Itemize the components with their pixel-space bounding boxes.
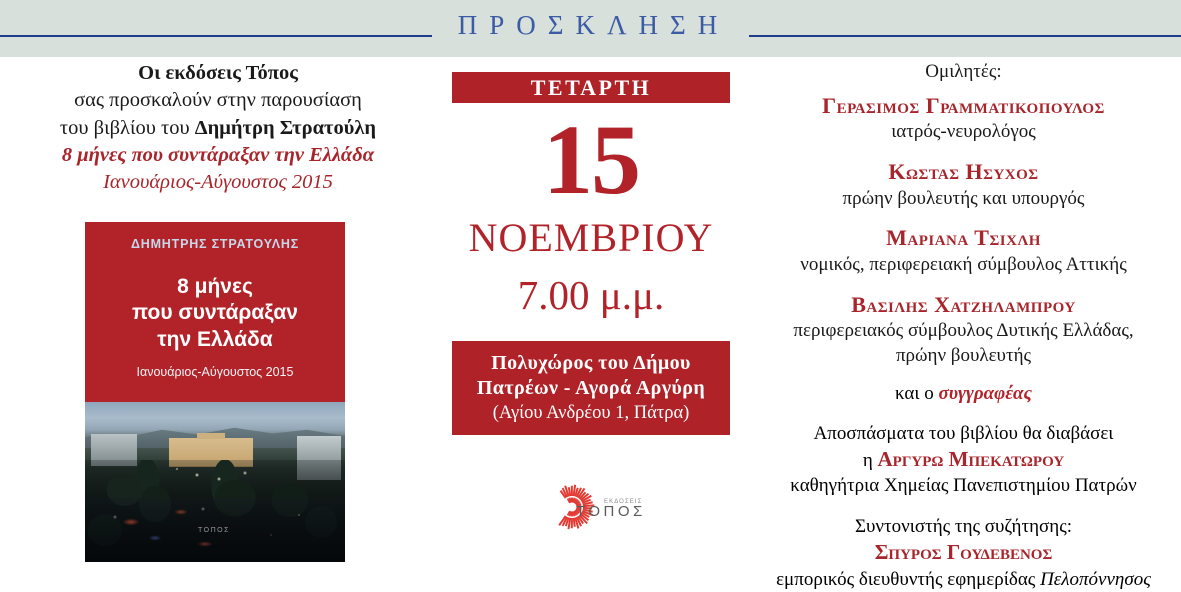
day-number: 15: [436, 110, 746, 210]
moderator-newspaper: Πελοπόννησος: [1040, 569, 1151, 590]
reading-reader-name: Αργυρω Μπεκατωρου: [878, 447, 1065, 471]
month-label: ΝΟΕΜΒΡΙΟΥ: [436, 218, 746, 258]
venue-box: Πολυχώρος του Δήμου Πατρέων - Αγορά Αργύ…: [452, 341, 730, 435]
page-title: ΠΡΟΣΚΛΗΣΗ: [432, 12, 750, 45]
moderator-name: Σπυρος Γουδεβενος: [746, 539, 1181, 567]
reading-line1: Αποσπάσματα του βιβλίου θα διαβάσει: [746, 421, 1181, 446]
venue-line2: Πατρέων - Αγορά Αργύρη: [477, 376, 705, 402]
book-cover-subtitle: Ιανουάριος-Αύγουστος 2015: [85, 365, 345, 379]
speaker-role: πρώην βουλευτής: [746, 344, 1181, 369]
speakers-heading: Ομιλητές:: [746, 60, 1181, 85]
speaker-block: Γερασιμος Γραμματικοπουλοςιατρός-νευρολό…: [746, 92, 1181, 145]
left-column: Οι εκδόσεις Τόπος σας προσκαλούν στην πα…: [0, 60, 436, 196]
intro-book-subtitle: Ιανουάριος-Αύγουστος 2015: [0, 169, 436, 196]
topos-burst-icon: ΕΚΔΟΣΕΙΣ ΤΟΠΟΣ: [540, 476, 650, 538]
speaker-block: Κωστας Ησυχοςπρώην βουλευτής και υπουργό…: [746, 158, 1181, 211]
venue-line1: Πολυχώρος του Δήμου: [491, 351, 691, 377]
book-cover: ΔΗΜΗΤΡΗΣ ΣΤΡΑΤΟΥΛΗΣ 8 μήνες που συντάραξ…: [85, 222, 345, 562]
intro-author-name: Δημήτρη Στρατούλη: [195, 117, 376, 139]
book-cover-title-line1: 8 μήνες: [85, 274, 345, 300]
intro-book-title: 8 μήνες που συντάραξαν την Ελλάδα: [0, 142, 436, 169]
intro-line-invite: σας προσκαλούν στην παρουσίαση: [0, 87, 436, 114]
invitation-intro: Οι εκδόσεις Τόπος σας προσκαλούν στην πα…: [0, 60, 436, 196]
speaker-role: νομικός, περιφερειακή σύμβουλος Αττικής: [746, 253, 1181, 278]
speaker-name: Βασιλης Χατζηλαμπρου: [746, 291, 1181, 320]
reading-reader-line: η Αργυρω Μπεκατωρου: [746, 446, 1181, 474]
speaker-role: πρώην βουλευτής και υπουργός: [746, 187, 1181, 212]
speaker-name: Γερασιμος Γραμματικοπουλος: [746, 92, 1181, 121]
intro-line-book-author: του βιβλίου του Δημήτρη Στρατούλη: [0, 115, 436, 142]
speakers-section: Ομιλητές: Γερασιμος Γραμματικοπουλοςιατρ…: [746, 60, 1181, 369]
header-title-wrap: ΠΡΟΣΚΛΗΣΗ: [0, 0, 1181, 57]
speaker-role: περιφερειακός σύμβουλος Δυτικής Ελλάδας,: [746, 319, 1181, 344]
speaker-block: Μαριανα Τσιχληνομικός, περιφερειακή σύμβ…: [746, 224, 1181, 277]
header-band: ΠΡΟΣΚΛΗΣΗ: [0, 0, 1181, 57]
and-author-prefix: και ο: [895, 383, 938, 404]
moderator-section: Συντονιστής της συζήτησης: Σπυρος Γουδεβ…: [746, 514, 1181, 592]
photo-watermark-logo: ΤΟΠΟΣ: [189, 520, 239, 542]
speaker-role: ιατρός-νευρολόγος: [746, 120, 1181, 145]
day-name-banner: ΤΕΤΑΡΤΗ: [452, 72, 730, 103]
publisher-logo: ΕΚΔΟΣΕΙΣ ΤΟΠΟΣ: [540, 476, 650, 538]
venue-address: (Αγίου Ανδρέου 1, Πάτρα): [493, 402, 690, 426]
moderator-role-prefix: εμπορικός διευθυντής εφημερίδας: [776, 569, 1040, 590]
time-label: 7.00 μ.μ.: [436, 275, 746, 316]
intro-line-publisher: Οι εκδόσεις Τόπος: [0, 60, 436, 87]
reading-reader-role: καθηγήτρια Χημείας Πανεπιστημίου Πατρών: [746, 473, 1181, 498]
speaker-name: Κωστας Ησυχος: [746, 158, 1181, 187]
and-author-line: και ο συγγραφέας: [746, 383, 1181, 405]
book-cover-title-line3: την Ελλάδα: [85, 327, 345, 353]
speakers-list: Γερασιμος Γραμματικοπουλοςιατρός-νευρολό…: [746, 92, 1181, 369]
book-cover-title-line2: που συντάραξαν: [85, 300, 345, 326]
and-author-word: συγγραφέας: [938, 383, 1032, 404]
reading-section: Αποσπάσματα του βιβλίου θα διαβάσει η Αρ…: [746, 421, 1181, 499]
reading-article: η: [863, 450, 878, 471]
speaker-name: Μαριανα Τσιχλη: [746, 224, 1181, 253]
book-cover-photo: ΤΟΠΟΣ: [85, 402, 345, 562]
moderator-heading: Συντονιστής της συζήτησης:: [746, 514, 1181, 539]
right-column: Ομιλητές: Γερασιμος Γραμματικοπουλοςιατρ…: [746, 60, 1181, 592]
moderator-role: εμπορικός διευθυντής εφημερίδας Πελοπόνν…: [746, 567, 1181, 592]
speaker-block: Βασιλης Χατζηλαμπρουπεριφερειακός σύμβου…: [746, 291, 1181, 369]
book-cover-title: 8 μήνες που συντάραξαν την Ελλάδα: [85, 274, 345, 353]
book-cover-author: ΔΗΜΗΤΡΗΣ ΣΤΡΑΤΟΥΛΗΣ: [85, 237, 345, 251]
svg-text:ΤΟΠΟΣ: ΤΟΠΟΣ: [576, 503, 646, 520]
intro-book-prefix: του βιβλίου του: [60, 117, 195, 139]
